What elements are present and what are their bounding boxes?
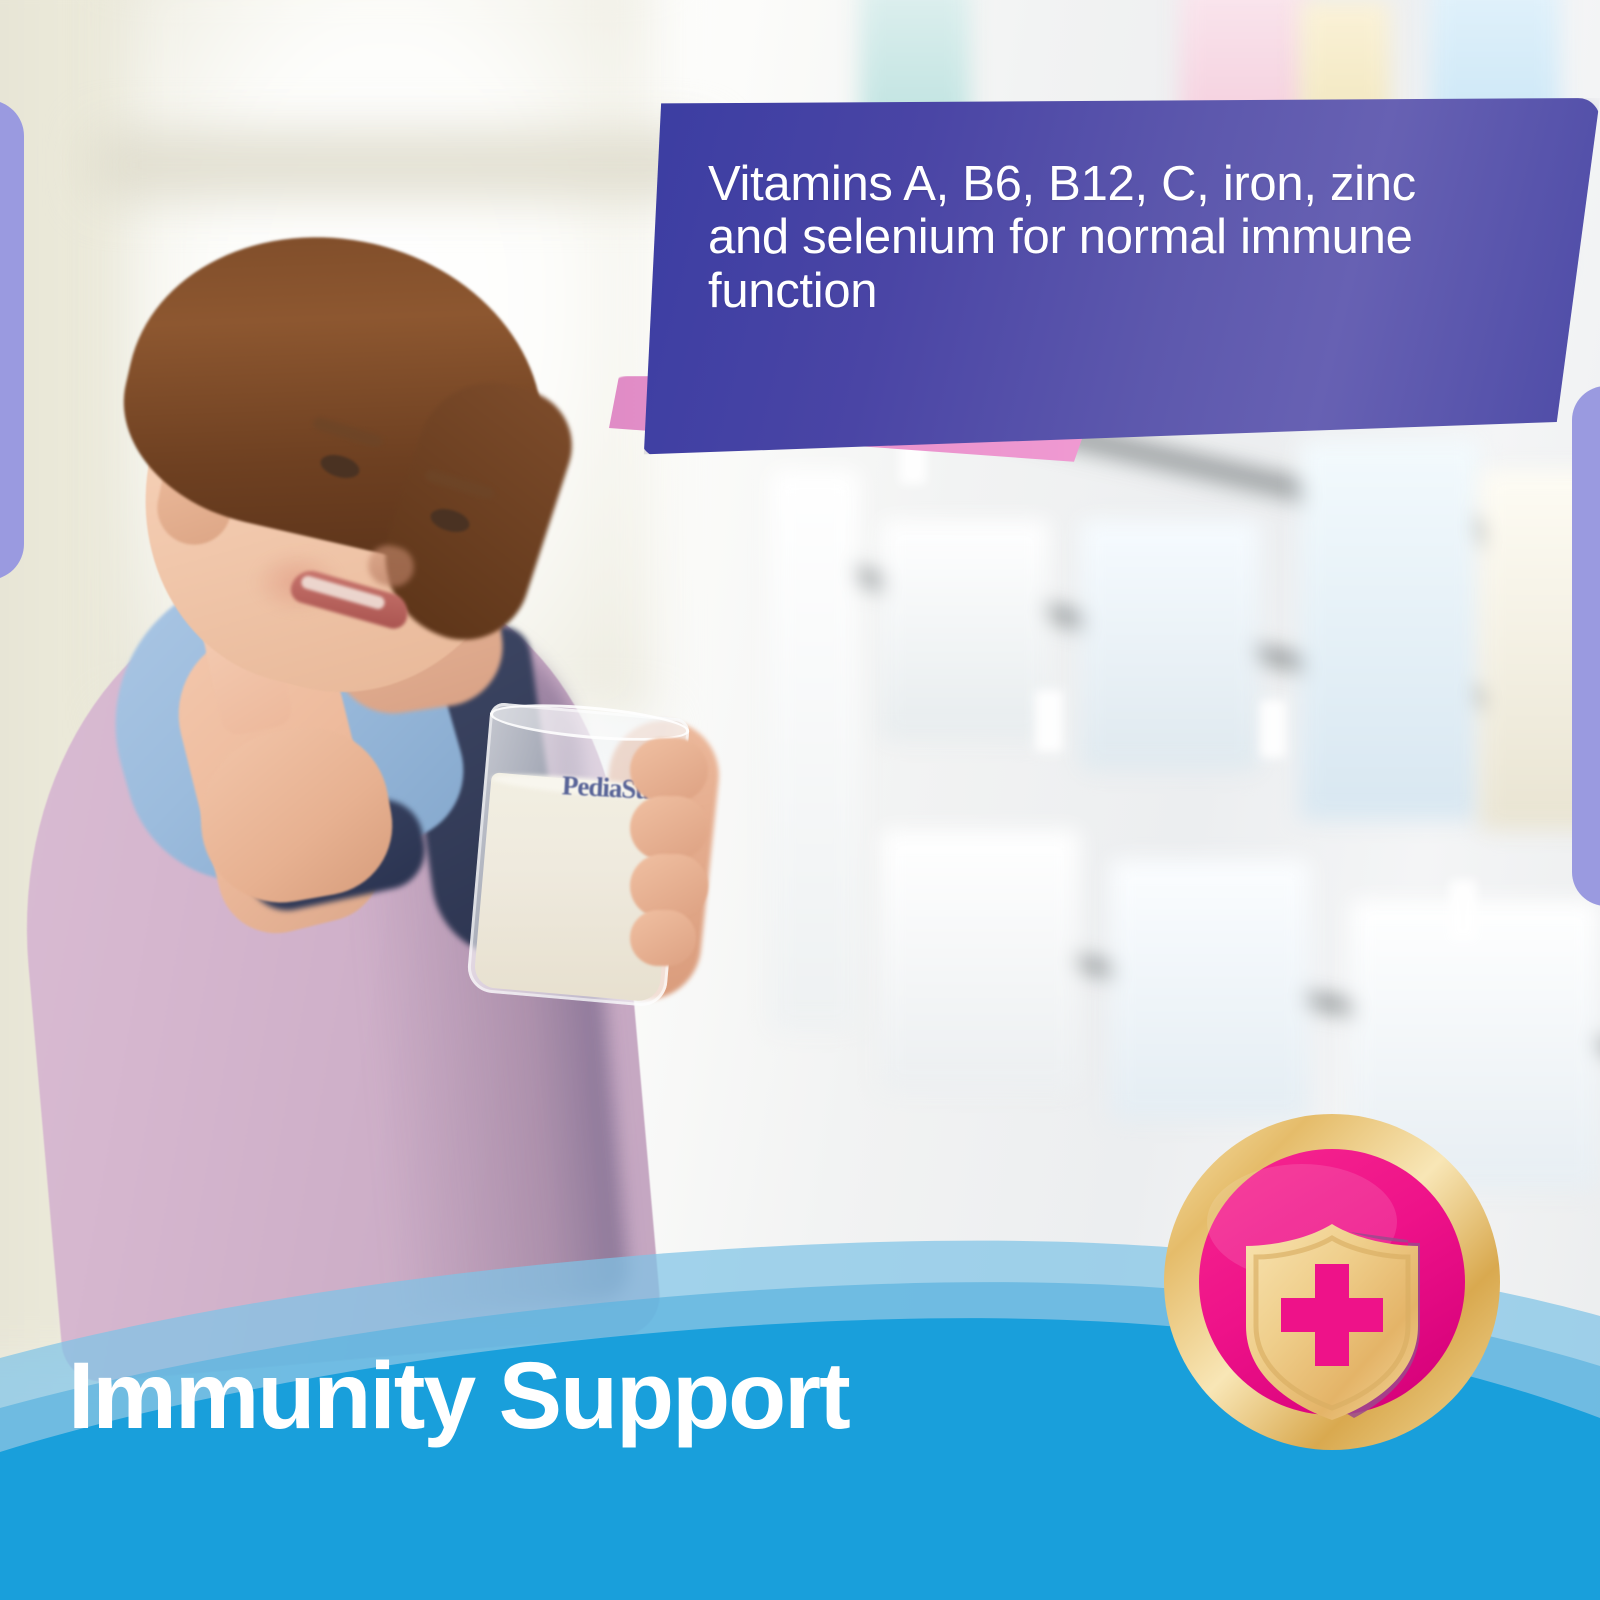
immunity-shield-badge (1162, 1112, 1502, 1452)
callout-text: Vitamins A, B6, B12, C, iron, zinc and s… (708, 158, 1448, 318)
shelf-product (880, 830, 1080, 1090)
shelf-product (1080, 520, 1260, 770)
marketing-banner-canvas: PediaSure Vitamins A, B6, B12, C, iron, (0, 0, 1600, 1600)
finger (630, 854, 708, 918)
shelf-price-tag (1450, 880, 1476, 940)
finger (630, 796, 708, 860)
shelf-price-tag (1035, 690, 1063, 752)
callout-banner: Vitamins A, B6, B12, C, iron, zinc and s… (560, 70, 1600, 470)
finger (630, 910, 696, 966)
shelf-product (1110, 860, 1310, 1120)
child-fingers (630, 738, 722, 988)
finger (630, 738, 708, 802)
shelf-product (1300, 440, 1480, 820)
shelf-product (770, 470, 860, 1030)
page-title: Immunity Support (68, 1349, 849, 1444)
shelf-product (880, 520, 1050, 740)
shelf-price-tag (1260, 700, 1286, 758)
